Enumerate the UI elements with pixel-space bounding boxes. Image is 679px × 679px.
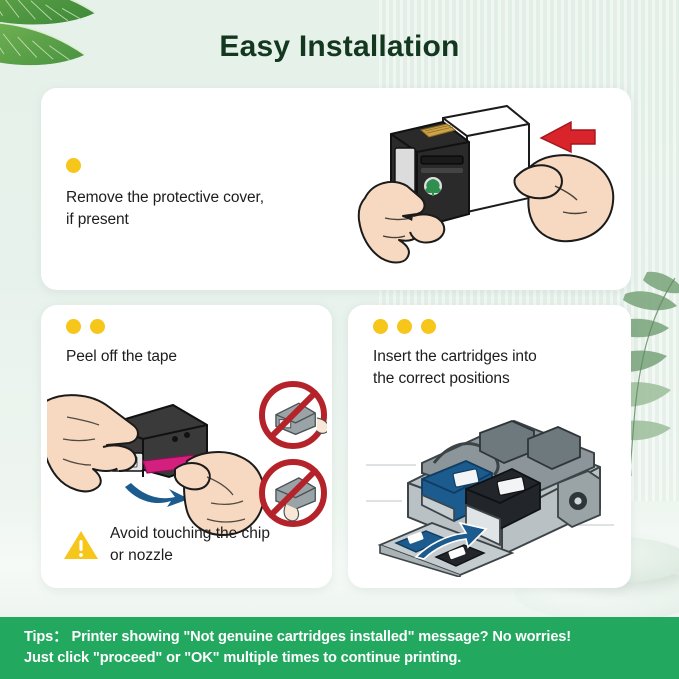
prohibition-sign-nozzle bbox=[262, 462, 324, 524]
step-1-text: Remove the protective cover, if present bbox=[66, 187, 366, 231]
step-2-text-line1: Peel off the tape bbox=[66, 346, 177, 368]
step-dot-icon bbox=[66, 158, 81, 173]
step-dot-icon bbox=[397, 319, 412, 334]
step-2-warning-line2: or nozzle bbox=[110, 545, 270, 567]
prohibition-sign-chip bbox=[262, 384, 327, 446]
step-2-warning: Avoid touching the chip or nozzle bbox=[63, 523, 320, 567]
step-3-header: Insert the cartridges into the correct p… bbox=[373, 319, 613, 390]
step-2-header: Peel off the tape bbox=[66, 319, 177, 368]
step-3-text-line1: Insert the cartridges into bbox=[373, 346, 613, 368]
step-2-illustration bbox=[47, 377, 327, 545]
step-3-text-line2: the correct positions bbox=[373, 368, 613, 390]
step-3-dots bbox=[373, 319, 613, 334]
step-2-warning-line1: Avoid touching the chip bbox=[110, 523, 270, 545]
step-1-dots bbox=[66, 158, 366, 173]
step-2-dots bbox=[66, 319, 177, 334]
step-dot-icon bbox=[90, 319, 105, 334]
page-title: Easy Installation bbox=[0, 30, 679, 64]
step-1-text-line2: if present bbox=[66, 209, 366, 231]
tips-line-2: Just click "proceed" or "OK" multiple ti… bbox=[24, 648, 679, 669]
step-card-2: Peel off the tape bbox=[41, 305, 332, 588]
step-card-3: Insert the cartridges into the correct p… bbox=[348, 305, 631, 588]
step-3-text: Insert the cartridges into the correct p… bbox=[373, 346, 613, 390]
tips-bar: Tips： Printer showing "Not genuine cartr… bbox=[0, 617, 679, 679]
step-1-illustration bbox=[355, 94, 625, 284]
step-2-warning-text: Avoid touching the chip or nozzle bbox=[110, 523, 270, 567]
step-2-text: Peel off the tape bbox=[66, 346, 177, 368]
step-dot-icon bbox=[373, 319, 388, 334]
step-1-body: Remove the protective cover, if present bbox=[66, 158, 366, 231]
step-3-illustration bbox=[362, 405, 618, 577]
step-card-1: Remove the protective cover, if present bbox=[41, 88, 631, 290]
warning-triangle-icon bbox=[63, 529, 99, 561]
step-dot-icon bbox=[421, 319, 436, 334]
step-dot-icon bbox=[66, 319, 81, 334]
tips-line-1: Tips： Printer showing "Not genuine cartr… bbox=[24, 627, 679, 648]
step-1-text-line1: Remove the protective cover, bbox=[66, 187, 366, 209]
